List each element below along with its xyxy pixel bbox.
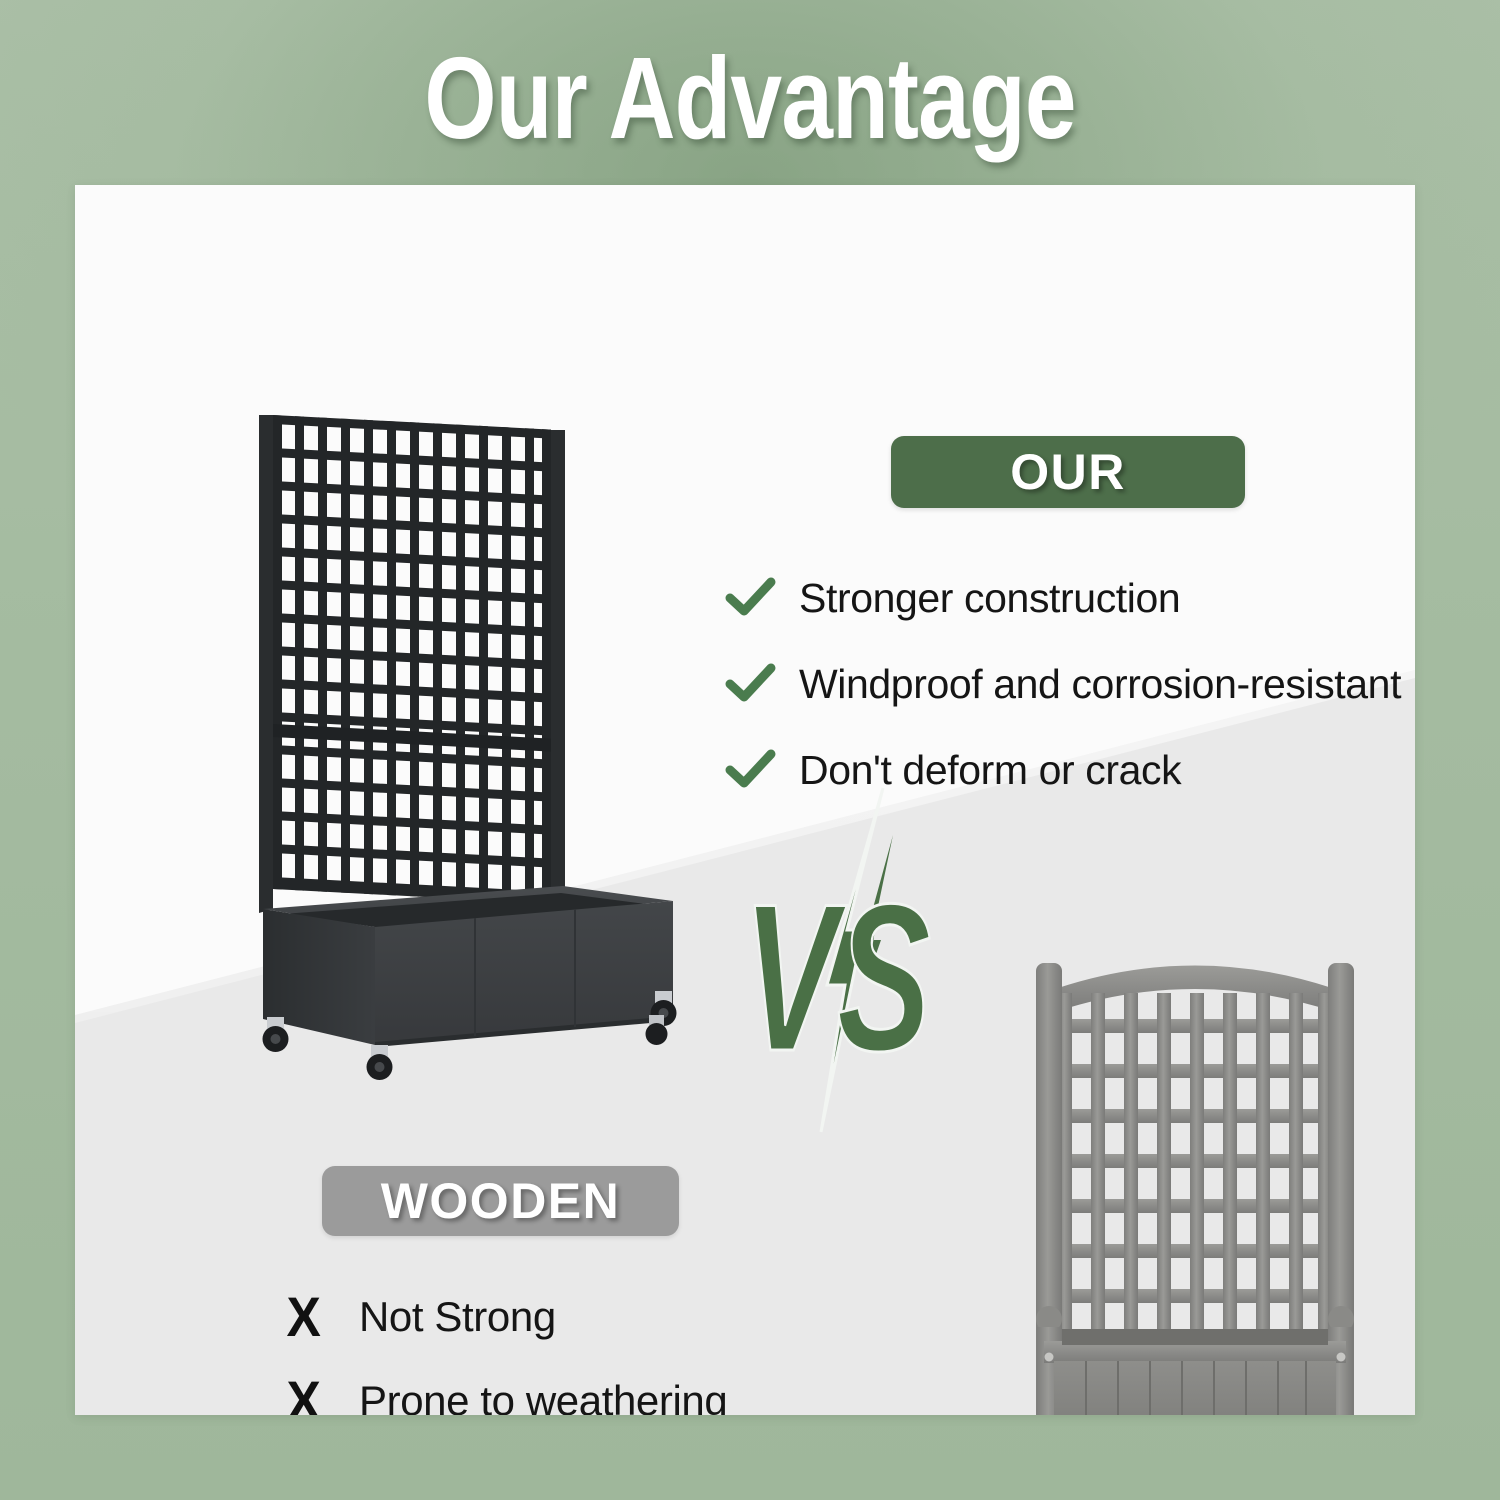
list-item: X Prone to weathering (285, 1359, 727, 1415)
box-planks (1054, 1361, 1336, 1415)
list-item: Stronger construction (725, 555, 1401, 641)
metal-planter-box (263, 886, 673, 1047)
vs-graphic: VS (735, 780, 1015, 1140)
check-icon (725, 663, 799, 705)
badge-our: OUR (891, 436, 1245, 508)
our-feature-list: Stronger construction Windproof and corr… (725, 555, 1401, 813)
cross-icon: X (285, 1373, 359, 1415)
list-item: Windproof and corrosion-resistant (725, 641, 1401, 727)
vs-svg: VS (735, 780, 1015, 1140)
cross-icon: X (285, 1289, 359, 1345)
list-item-label: Prone to weathering (359, 1377, 727, 1415)
metal-trellis-panel (259, 415, 565, 913)
wooden-feature-list: X Not Strong X Prone to weathering X Eas… (285, 1275, 727, 1415)
check-icon (725, 577, 799, 619)
vs-label: VS (743, 860, 931, 1095)
metal-trellis-planter-image (243, 397, 693, 1087)
list-item-label: Windproof and corrosion-resistant (799, 661, 1401, 708)
comparison-card: OUR WOODEN Stronger construction Windpr (75, 185, 1415, 1415)
page-title: Our Advantage (150, 38, 1350, 158)
list-item-label: Stronger construction (799, 575, 1180, 622)
wooden-trellis-planter-image (1000, 933, 1390, 1415)
infographic-page: Our Advantage (0, 0, 1500, 1500)
wooden-product-svg (1000, 933, 1390, 1415)
metal-product-svg (243, 397, 693, 1087)
list-item: X Not Strong (285, 1275, 727, 1359)
badge-wooden: WOODEN (322, 1166, 679, 1236)
list-item-label: Not Strong (359, 1293, 556, 1341)
